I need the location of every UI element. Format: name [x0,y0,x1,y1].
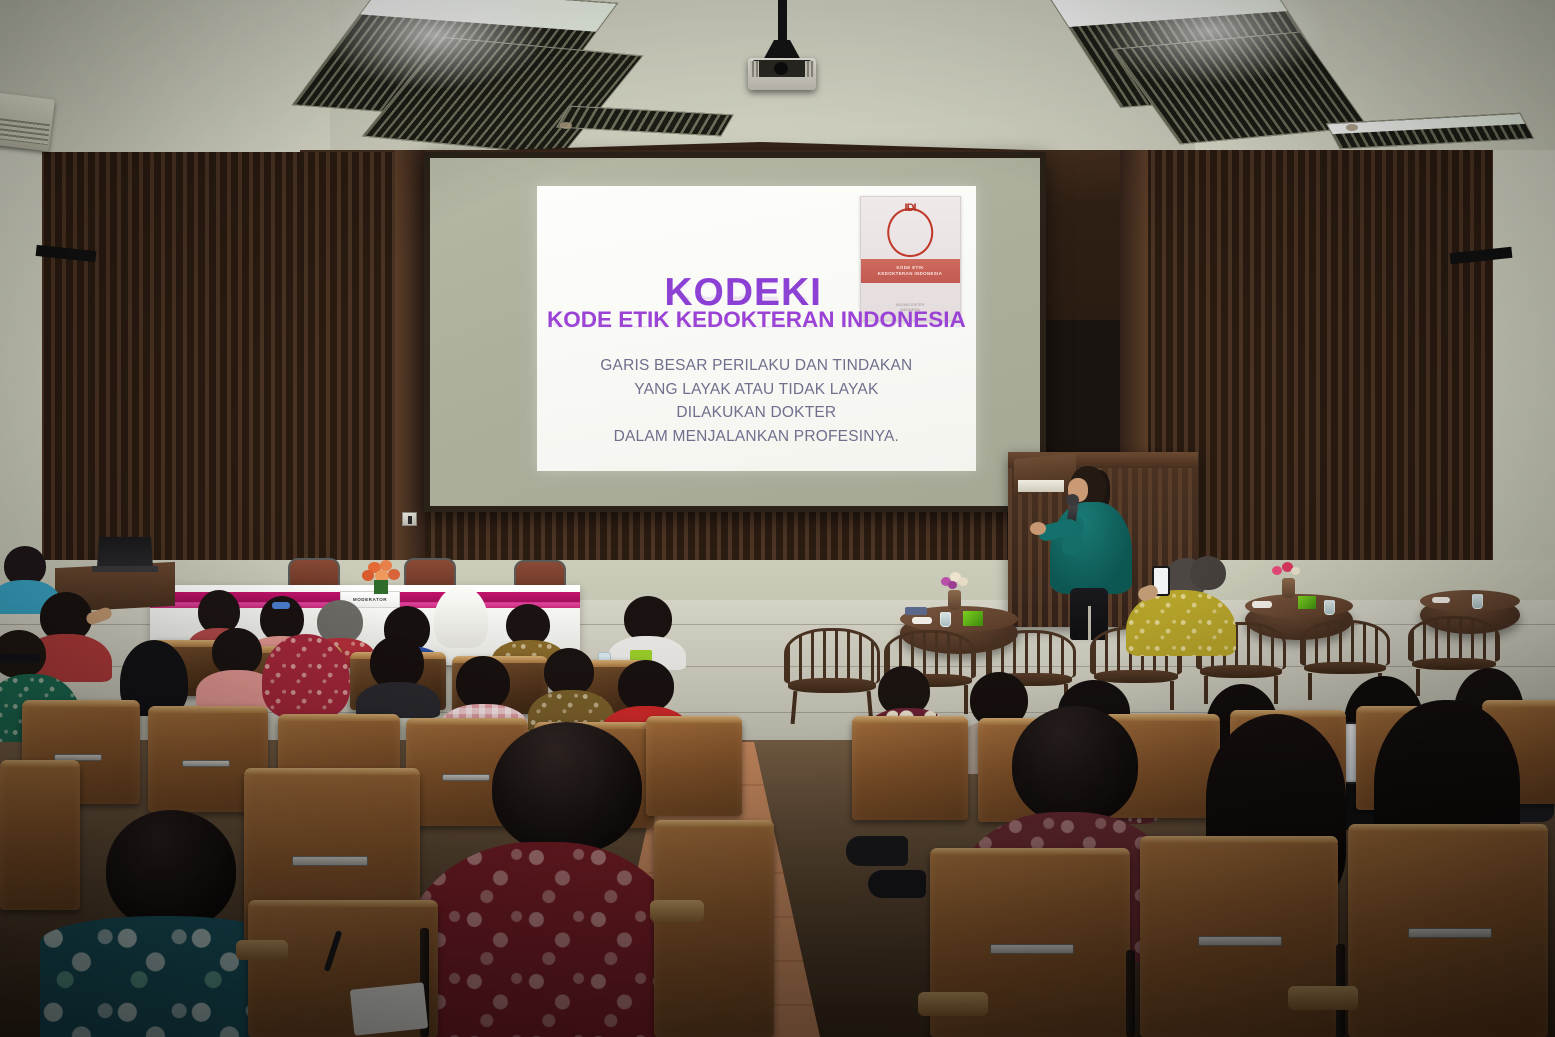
smoke-detector-2 [1346,124,1358,131]
auditorium-seat[interactable] [0,760,80,910]
maroon-batik-shirt [400,842,690,1037]
projector-lens [774,62,788,75]
wall-outlet[interactable] [402,512,417,526]
operator-laptop[interactable] [97,537,153,568]
slide-body-text: GARIS BESAR PERILAKU DAN TINDAKAN YANG L… [554,354,958,448]
napkin-3 [1432,597,1450,603]
head [212,628,262,676]
seat-support-post [1126,950,1135,1037]
hair-clip [272,602,290,609]
flower-vase-2 [1282,578,1295,598]
head [456,656,510,710]
projection-screen-frame: IDI KODE ETIK KEDOKTERAN INDONESIA IKATA… [424,152,1046,512]
green-box-2 [1298,596,1316,609]
shoe-2 [868,870,926,898]
head [492,722,642,854]
slide-body-line-4: DALAM MENJALANKAN PROFESINYA. [554,425,958,449]
armrest [918,992,988,1016]
flowers-1 [940,572,970,592]
patterned-hijab [262,634,350,718]
water-glass-3 [1472,594,1483,609]
white-hijab [434,586,488,648]
operator-laptop-base [92,566,158,572]
slide-body-line-3: DILAKUKAN DOKTER [554,401,958,425]
idi-logo-text: IDI [887,208,933,254]
projector-mount-pole [778,0,787,44]
armrest [650,900,704,922]
cream-wall-left [0,150,42,570]
phone-on-table-1[interactable] [905,607,927,615]
air-conditioner [0,93,55,152]
light-glow-right [1090,0,1330,86]
slide-body-line-1: GARIS BESAR PERILAKU DAN TINDAKAN [554,354,958,378]
smoke-detector-1 [560,122,572,129]
auditorium-seat[interactable] [852,716,968,820]
slide-body-line-2: YANG LAYAK ATAU TIDAK LAYAK [554,378,958,402]
presentation-slide: IDI KODE ETIK KEDOKTERAN INDONESIA IKATA… [537,186,976,471]
head [106,810,236,930]
water-glass-1 [940,612,951,627]
wall-speaker-right [1444,153,1519,262]
auditorium-seat[interactable] [654,820,774,1037]
presenter-hand-left [1030,522,1046,535]
flower-vase-1 [948,590,961,610]
paper-notes [350,982,428,1035]
audience-woman-red-batik-hijab [262,634,354,720]
napkin-2 [1252,601,1272,608]
head [618,660,674,712]
audience-man-foreground-center [400,722,690,1037]
head [1012,706,1138,824]
slide-subtitle-reflection: KODE ETIK KEDOKTERAN INDONESIA [546,314,968,330]
head [1190,556,1226,590]
water-glass-2 [1324,600,1335,615]
green-box-1 [963,611,983,626]
armrest [236,940,288,960]
slide-title-reflection: KODEKI [537,276,950,305]
ceiling-projector [748,58,816,90]
armrest [1288,986,1358,1010]
audience-person-behind-right [1172,556,1254,626]
microphone-head [1066,494,1079,506]
projection-screen-surface: IDI KODE ETIK KEDOKTERAN INDONESIA IKATA… [430,158,1040,506]
shoe-1 [846,836,908,866]
napkin-1 [912,617,932,624]
light-glow-left [320,0,550,90]
audience-woman-dark-hair-b [356,636,440,716]
head [544,648,594,696]
eyeglasses [0,654,40,663]
auditorium-seat[interactable] [1348,824,1548,1037]
torso [356,682,440,718]
flower-arrangement-head-table [360,560,406,594]
flowers-2 [1272,562,1302,580]
auditorium-photo: IDI KODE ETIK KEDOKTERAN INDONESIA IKATA… [0,0,1555,1037]
ceiling-slope-left [0,0,330,176]
presenter-speaker [1044,466,1136,636]
